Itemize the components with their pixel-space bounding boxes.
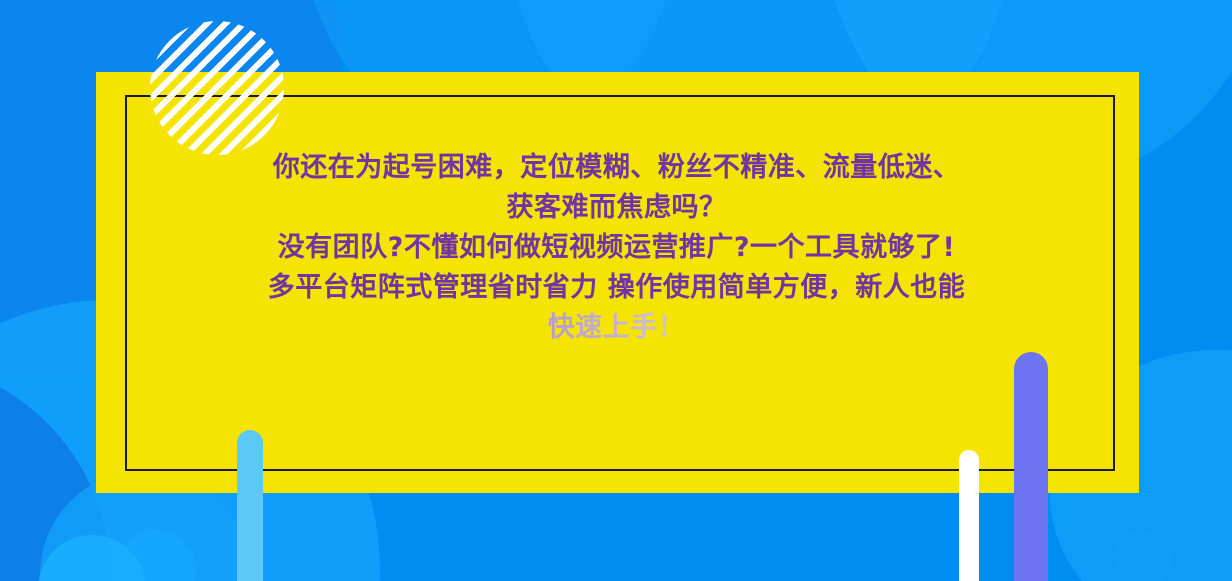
headline-line-3: 没有团队?不懂如何做短视频运营推广?一个工具就够了! [140, 228, 1093, 268]
headline-line-5: 快速上手！ [140, 308, 1093, 348]
cyan-bar-icon [237, 430, 263, 581]
poster-canvas: 你还在为起号困难，定位模糊、粉丝不精准、流量低迷、 获客难而焦虑吗？ 没有团队?… [0, 0, 1232, 581]
purple-bar-icon [1014, 352, 1048, 581]
striped-circle-icon [150, 21, 284, 155]
white-bar-icon [959, 450, 979, 581]
headline-block: 你还在为起号困难，定位模糊、粉丝不精准、流量低迷、 获客难而焦虑吗？ 没有团队?… [140, 148, 1093, 348]
headline-line-2: 获客难而焦虑吗？ [140, 188, 1093, 228]
background-dot-right [1114, 530, 1172, 581]
headline-line-4: 多平台矩阵式管理省时省力 操作使用简单方便，新人也能 [140, 268, 1093, 308]
headline-line-1: 你还在为起号困难，定位模糊、粉丝不精准、流量低迷、 [140, 148, 1093, 188]
